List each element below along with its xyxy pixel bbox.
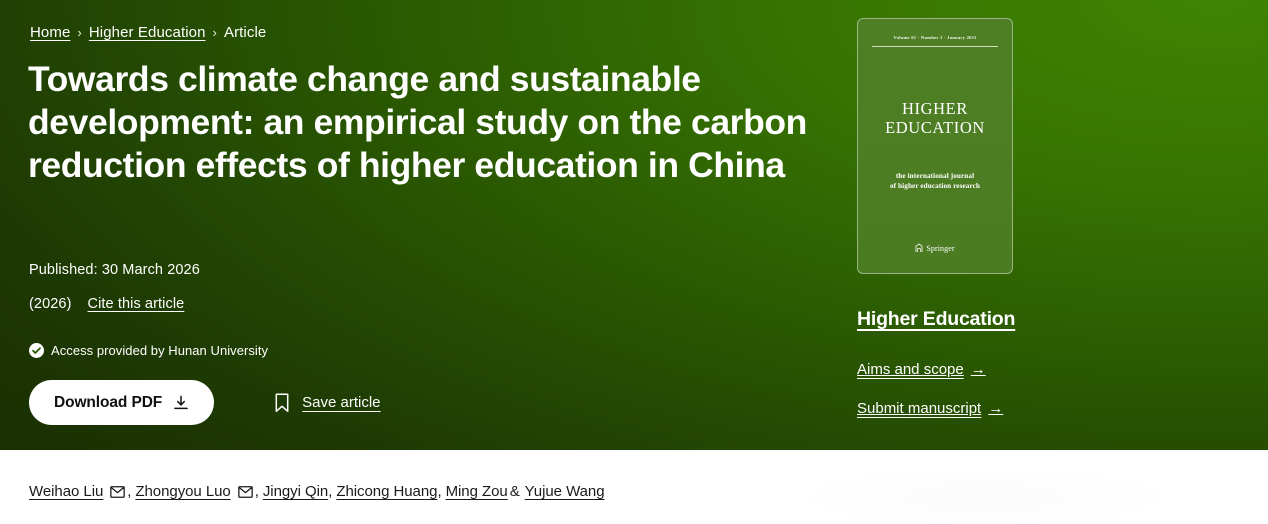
cover-journal-title: HIGHER EDUCATION [858, 99, 1012, 137]
aims-and-scope-label: Aims and scope [857, 361, 964, 378]
save-article-button[interactable]: Save article [274, 393, 380, 413]
citation-row: (2026) Cite this article [29, 296, 184, 312]
arrow-right-icon: → [971, 361, 986, 378]
breadcrumb-separator-icon: › [77, 25, 81, 40]
breadcrumb: Home›Higher Education›Article [30, 24, 266, 41]
author-separator: , [255, 483, 259, 500]
breadcrumb-item-home[interactable]: Home [30, 24, 70, 41]
author-link[interactable]: Jingyi Qin [263, 483, 328, 500]
arrow-right-icon: → [988, 400, 1003, 417]
cover-subtitle-line1: the international journal [858, 171, 1012, 181]
breadcrumb-separator-icon: › [213, 25, 217, 40]
journal-cover-image[interactable]: Volume 61 · Number 1 · January 2011 HIGH… [857, 18, 1013, 274]
cover-title-line2: EDUCATION [858, 118, 1012, 137]
article-actions: Download PDF Save article [29, 380, 381, 425]
download-icon [173, 395, 189, 411]
download-pdf-button[interactable]: Download PDF [29, 380, 214, 425]
cover-divider [872, 46, 998, 47]
submit-manuscript-label: Submit manuscript [857, 400, 981, 417]
download-pdf-label: Download PDF [54, 394, 162, 412]
cover-subtitle: the international journal of higher educ… [858, 171, 1012, 191]
author-separator: , [127, 483, 131, 500]
author-link[interactable]: Weihao Liu [29, 483, 103, 500]
cover-publisher: Springer [858, 243, 1012, 253]
envelope-icon[interactable] [238, 486, 253, 498]
access-provided-text: Access provided by Hunan University [51, 343, 268, 358]
author-list: Weihao Liu,Zhongyou Luo,Jingyi Qin,Zhico… [29, 483, 605, 500]
save-article-label: Save article [302, 394, 380, 411]
author-link[interactable]: Zhicong Huang [336, 483, 437, 500]
author-link[interactable]: Yujue Wang [525, 483, 605, 500]
author-link[interactable]: Zhongyou Luo [135, 483, 230, 500]
envelope-icon[interactable] [110, 486, 125, 498]
author-separator: , [437, 483, 441, 500]
cover-subtitle-line2: of higher education research [858, 181, 1012, 191]
aims-and-scope-link[interactable]: Aims and scope → [857, 361, 986, 378]
springer-label: Springer [926, 244, 954, 253]
author-separator: , [328, 483, 332, 500]
bookmark-icon [274, 393, 290, 413]
article-page: Home›Higher Education›Article Towards cl… [0, 0, 1268, 524]
cover-title-line1: HIGHER [858, 99, 1012, 118]
breadcrumb-item-article: Article [224, 24, 266, 41]
article-hero-banner: Home›Higher Education›Article Towards cl… [0, 0, 1268, 450]
cover-volume-line: Volume 61 · Number 1 · January 2011 [858, 35, 1012, 40]
published-date: Published: 30 March 2026 [29, 262, 200, 278]
author-separator: & [510, 483, 520, 500]
page-watermark [800, 470, 1260, 524]
author-link[interactable]: Ming Zou [446, 483, 508, 500]
journal-name-link[interactable]: Higher Education [857, 308, 1015, 331]
access-provided-row: Access provided by Hunan University [29, 343, 268, 358]
springer-logo-icon [915, 243, 923, 253]
page-title: Towards climate change and sustainable d… [28, 58, 828, 187]
cite-this-article-link[interactable]: Cite this article [88, 296, 185, 312]
breadcrumb-item-higher-education[interactable]: Higher Education [89, 24, 206, 41]
publication-year: (2026) [29, 296, 72, 312]
check-circle-icon [29, 343, 44, 358]
submit-manuscript-link[interactable]: Submit manuscript → [857, 400, 1003, 417]
